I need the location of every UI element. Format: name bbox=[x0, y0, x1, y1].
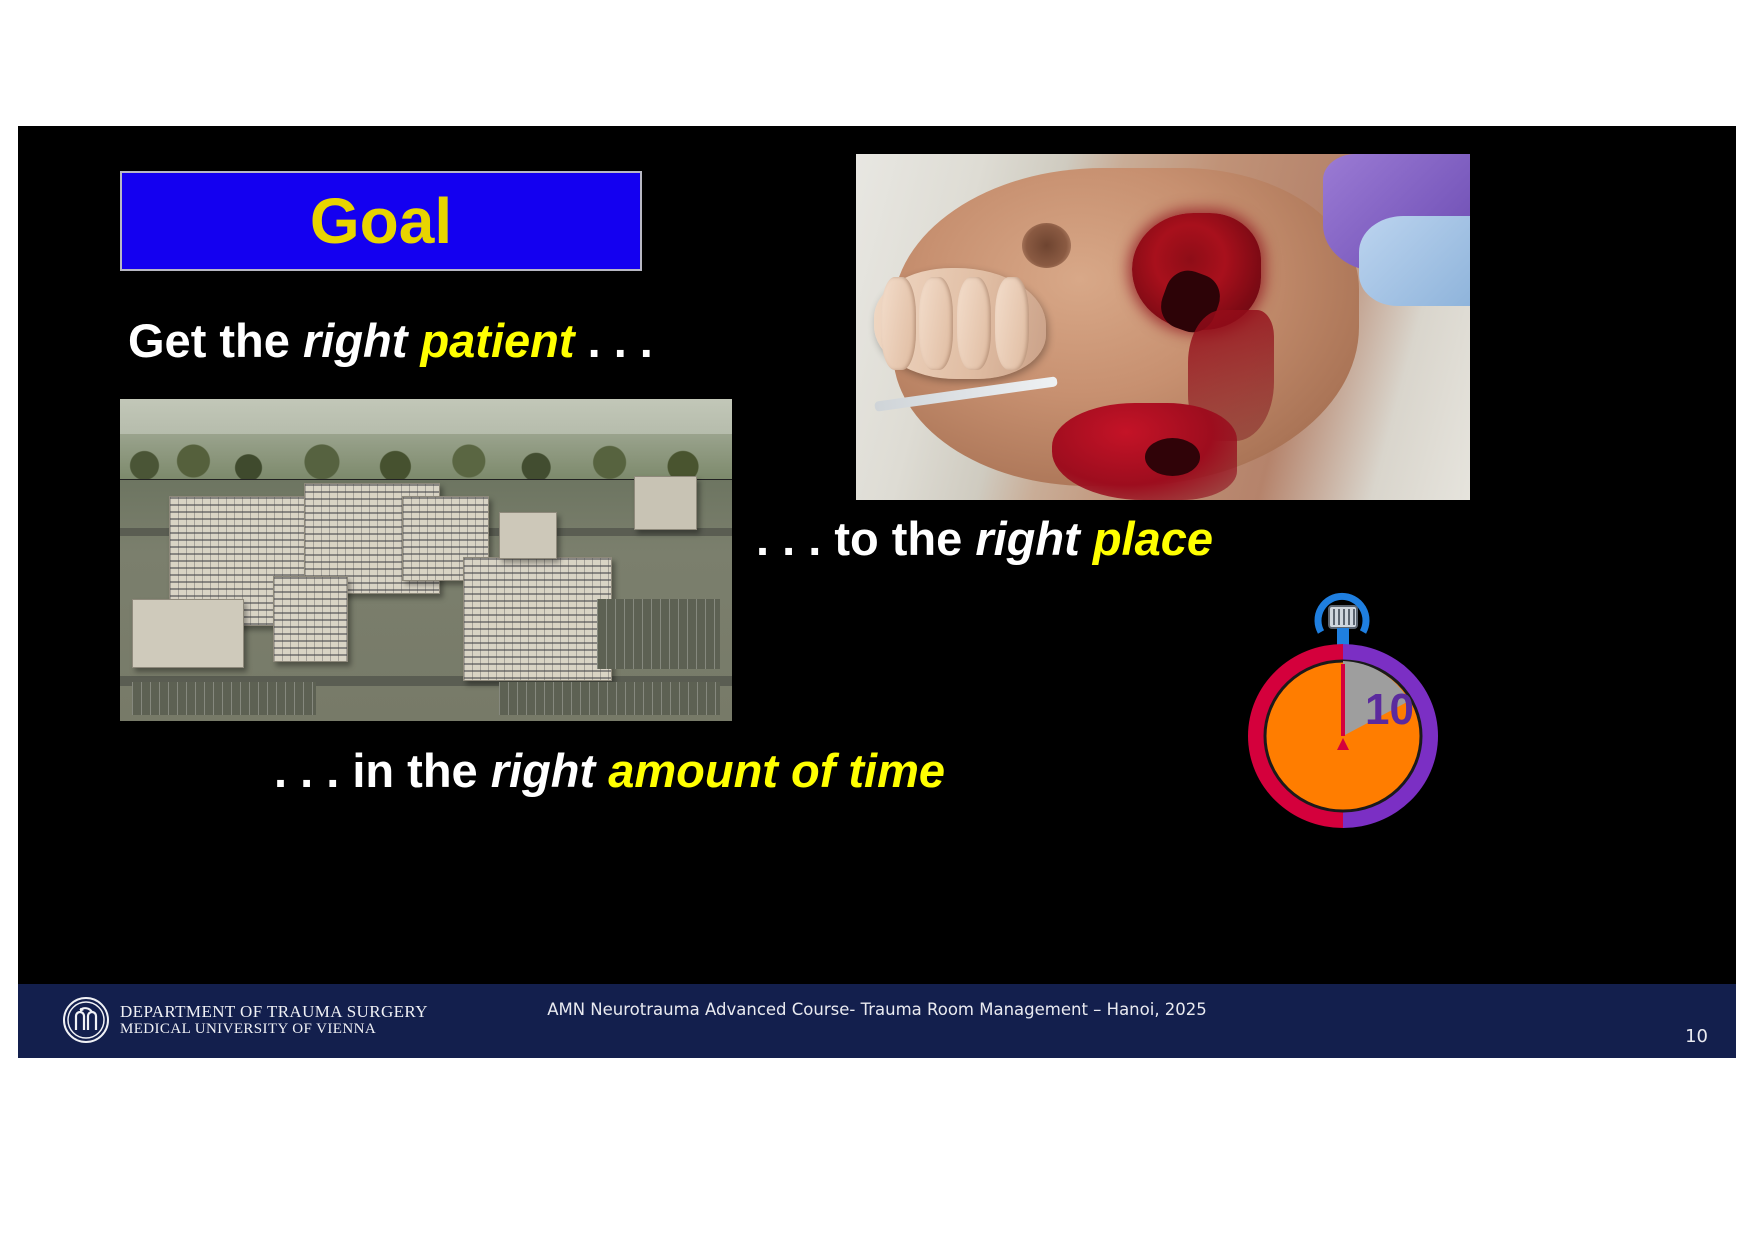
photo-building bbox=[273, 576, 348, 662]
hospital-aerial-photo bbox=[120, 399, 732, 721]
headline-part-highlight: place bbox=[1093, 512, 1213, 565]
photo-building bbox=[634, 476, 697, 530]
headline-right-place: . . . to the right place bbox=[756, 514, 1213, 563]
photo-parking-lot bbox=[132, 682, 316, 714]
photo-finger bbox=[957, 277, 991, 370]
headline-part-italic: right bbox=[303, 314, 420, 367]
headline-right-amount-of-time: . . . in the right amount of time bbox=[274, 746, 945, 795]
photo-blue-glove bbox=[1359, 216, 1470, 306]
page-title: Goal bbox=[310, 189, 452, 253]
photo-finger bbox=[881, 277, 915, 370]
headline-part-ellipsis: . . . bbox=[575, 314, 653, 367]
photo-parking-lot bbox=[597, 599, 719, 670]
headline-part-highlight: patient bbox=[420, 314, 574, 367]
slide-footer: DEPARTMENT OF TRAUMA SURGERY MEDICAL UNI… bbox=[18, 984, 1736, 1058]
stopwatch-stem-icon bbox=[1337, 628, 1349, 646]
headline-part-italic: right bbox=[491, 744, 608, 797]
stopwatch-icon: 10 bbox=[1213, 576, 1467, 836]
photo-clot bbox=[1145, 438, 1200, 476]
photo-building bbox=[132, 599, 244, 669]
slide-canvas: Goal Get the right patient . . . . . . t… bbox=[18, 126, 1736, 984]
footer-course-title: AMN Neurotrauma Advanced Course- Trauma … bbox=[18, 1000, 1736, 1019]
headline-part-italic: right bbox=[975, 512, 1092, 565]
photo-treeline bbox=[120, 434, 732, 479]
photo-building bbox=[499, 512, 556, 559]
headline-right-patient: Get the right patient . . . bbox=[128, 316, 653, 365]
photo-parking-lot bbox=[499, 682, 719, 714]
stopwatch-value: 10 bbox=[1365, 685, 1414, 734]
institution-university: MEDICAL UNIVERSITY OF VIENNA bbox=[120, 1021, 428, 1038]
headline-part-highlight: amount of time bbox=[608, 744, 945, 797]
headline-part-plain: Get the bbox=[128, 314, 303, 367]
photo-finger bbox=[995, 277, 1029, 370]
photo-torso-detail bbox=[1022, 223, 1071, 268]
slide-page-number: 10 bbox=[1685, 1026, 1708, 1047]
slide-title-box: Goal bbox=[120, 171, 642, 271]
photo-blood-pool bbox=[1052, 403, 1236, 500]
stopwatch-graphic: 10 bbox=[1213, 576, 1467, 836]
photo-finger bbox=[919, 277, 953, 370]
photo-clinician-hand bbox=[874, 268, 1046, 379]
photo-building bbox=[463, 557, 612, 681]
headline-part-plain: . . . in the bbox=[274, 744, 491, 797]
headline-part-plain: . . . to the bbox=[756, 512, 975, 565]
trauma-patient-photo bbox=[856, 154, 1470, 500]
